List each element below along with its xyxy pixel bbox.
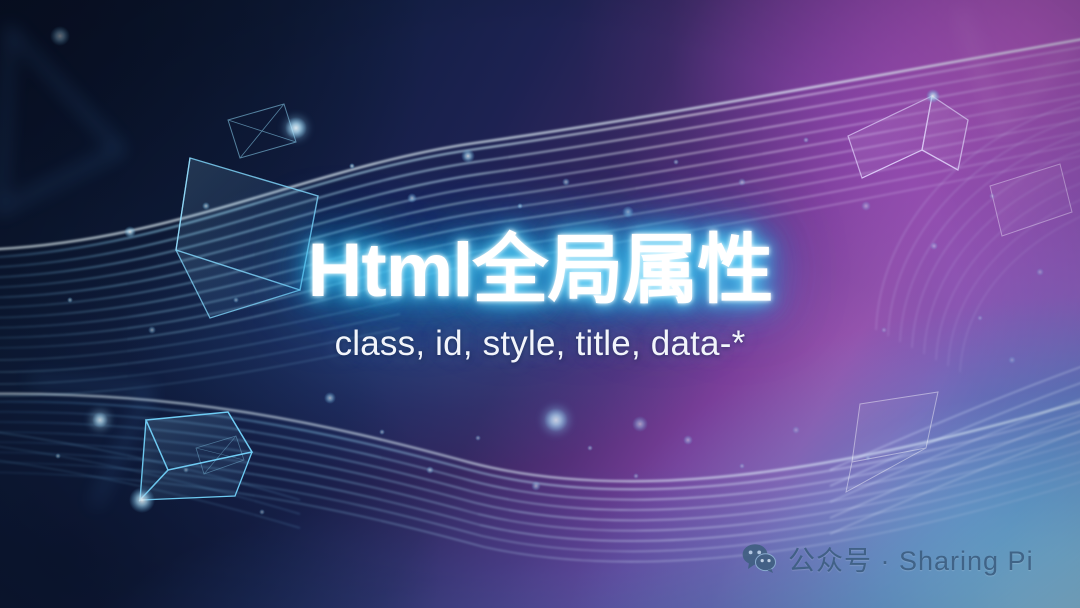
wireframe-frame-lower-left — [196, 436, 244, 474]
wireframe-shard-right-mid — [990, 164, 1072, 236]
wechat-icon — [742, 544, 776, 573]
watermark-text: 公众号 · Sharing Pi — [788, 539, 1034, 578]
wireframe-shard-right-bottom — [846, 392, 938, 492]
watermark: 公众号 · Sharing Pi — [742, 539, 1034, 578]
wireframe-polyhedron-right-top — [848, 89, 968, 178]
page-title: Html全局属性 — [0, 232, 1080, 310]
wireframe-polyhedron-bottom-left — [129, 412, 252, 513]
page-subtitle: class, id, style, title, data-* — [0, 324, 1080, 364]
slide-canvas: Html全局属性 class, id, style, title, data-*… — [0, 0, 1080, 608]
headline-block: Html全局属性 class, id, style, title, data-* — [0, 232, 1080, 364]
wireframe-quad-left-small — [228, 104, 296, 158]
